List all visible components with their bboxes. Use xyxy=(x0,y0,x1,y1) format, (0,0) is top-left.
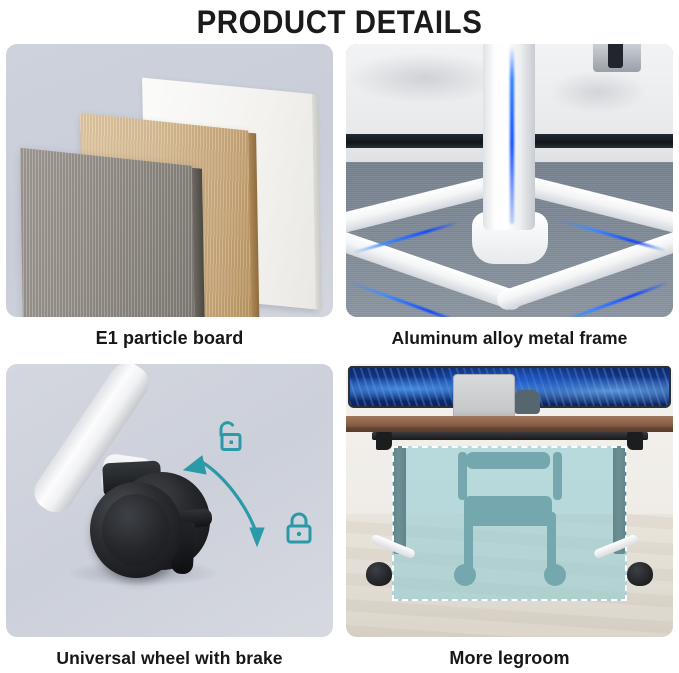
page-title: PRODUCT DETAILS xyxy=(27,2,652,42)
desk-caster-right xyxy=(627,562,653,586)
desk-bracket-left xyxy=(376,432,392,450)
lock-icon xyxy=(282,510,316,546)
desk-cross-beam xyxy=(372,432,648,440)
detail-cell-particle-board: E1 particle board xyxy=(6,44,333,350)
caption-metal-frame: Aluminum alloy metal frame xyxy=(346,326,673,350)
caption-more-legroom: More legroom xyxy=(346,646,673,670)
particle-board-image xyxy=(6,44,333,317)
underside-shadow-left xyxy=(346,52,503,104)
details-grid: E1 particle board xyxy=(0,44,679,673)
detail-cell-universal-wheel: Universal wheel with brake xyxy=(6,364,333,670)
universal-wheel-image xyxy=(6,364,333,637)
detail-cell-more-legroom: More legroom xyxy=(346,364,673,670)
metal-frame-image xyxy=(346,44,673,317)
caption-universal-wheel: Universal wheel with brake xyxy=(6,646,333,670)
laptop xyxy=(453,374,515,420)
chair-headrest xyxy=(514,390,540,414)
white-board-edge xyxy=(312,94,322,310)
product-details-infographic: PRODUCT DETAILS E1 particle board xyxy=(0,0,679,673)
desk-bracket-right xyxy=(627,432,643,450)
curved-arrow-icon xyxy=(184,456,264,546)
center-post xyxy=(483,44,535,230)
unlock-icon xyxy=(211,419,247,453)
desk-foot-right xyxy=(587,542,655,584)
desk-foot-left xyxy=(364,542,432,584)
underside-device xyxy=(593,44,641,72)
underside-shadow-right xyxy=(549,70,647,114)
gray-board xyxy=(20,148,196,317)
caption-particle-board: E1 particle board xyxy=(6,326,333,350)
detail-cell-metal-frame: Aluminum alloy metal frame xyxy=(346,44,673,350)
desk-caster-left xyxy=(366,562,392,586)
lock-indicator-overlay xyxy=(6,364,333,637)
more-legroom-image xyxy=(346,364,673,637)
center-post-led xyxy=(510,46,514,224)
